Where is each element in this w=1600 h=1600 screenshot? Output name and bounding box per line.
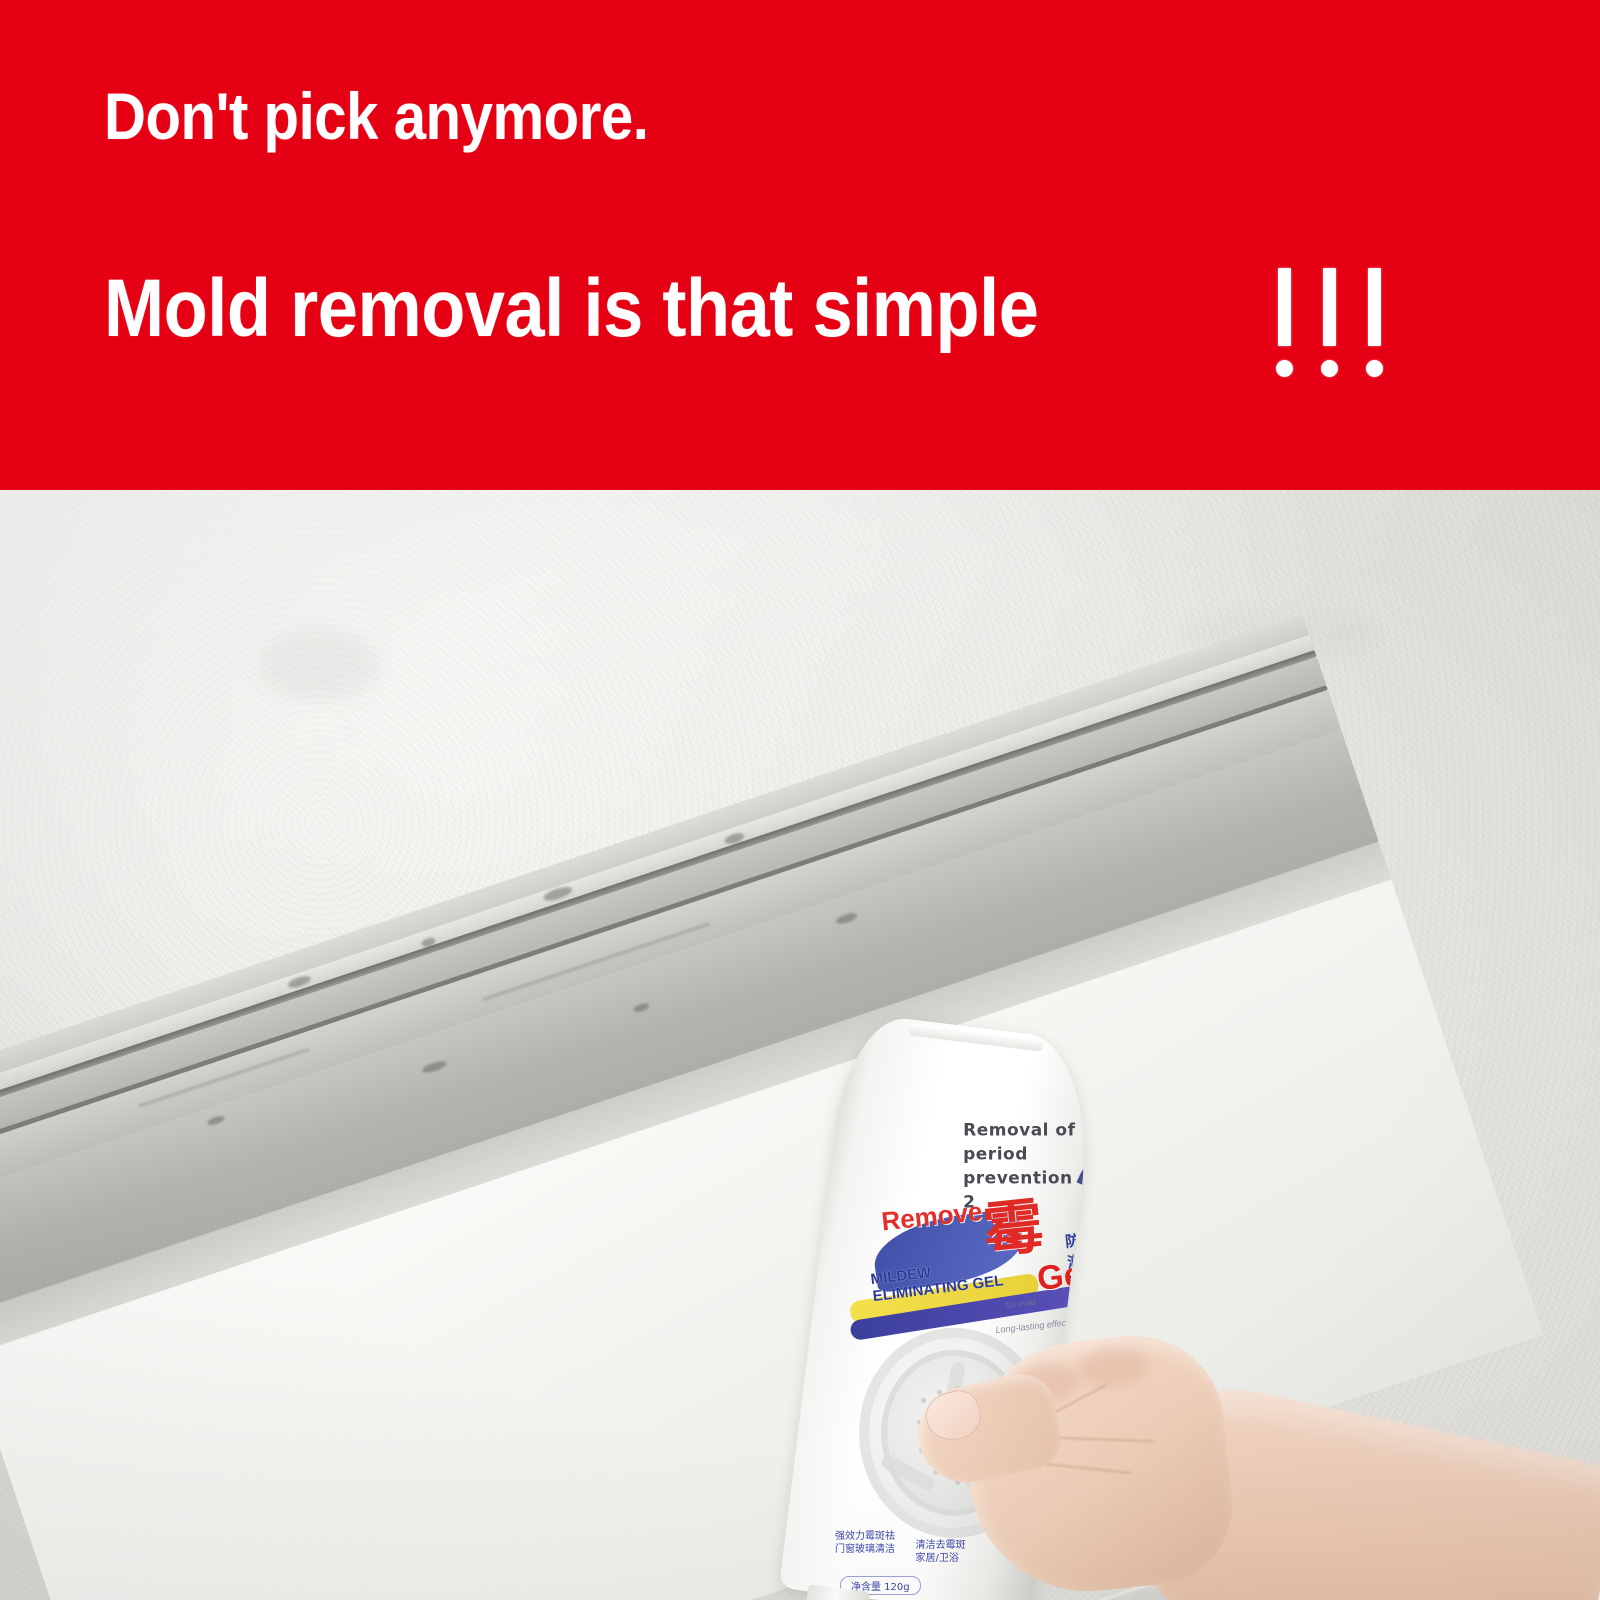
product-photo: Removal of period prevention 2 Remove 霉 …	[0, 490, 1600, 1600]
exclamation-dot	[1366, 360, 1383, 377]
advertisement-page: Don't pick anymore. Mold removal is that…	[0, 0, 1600, 1600]
headline-banner: Don't pick anymore. Mold removal is that…	[0, 0, 1600, 490]
brand-cjk-character: 霉	[981, 1196, 1047, 1262]
exclamation-mark-icon	[1323, 268, 1336, 378]
tube-body-text-left: 强效力霉斑祛 门窗玻璃清洁	[835, 1530, 895, 1556]
exclamation-dot	[1321, 360, 1338, 377]
exclamation-mark-icon	[1368, 268, 1381, 378]
wall-smudge	[260, 630, 380, 700]
exclamation-stem	[1368, 268, 1381, 346]
hand	[940, 1330, 1600, 1600]
headline-primary: Don't pick anymore.	[104, 78, 648, 154]
exclamation-dot	[1276, 360, 1293, 377]
knuckle-shading	[1076, 1344, 1150, 1391]
headline-secondary: Mold removal is that simple	[104, 262, 1038, 356]
exclamation-mark-icon	[1278, 268, 1291, 378]
tube-crimp-seal	[908, 1023, 1045, 1051]
exclamation-stem	[1323, 268, 1336, 346]
exclamation-marks-group	[1278, 268, 1381, 378]
tube-brand-band: Remove 霉 Gel 防潮型 MILDEW ELIMINATING GEL …	[856, 1195, 1098, 1325]
exclamation-stem	[1278, 268, 1291, 346]
